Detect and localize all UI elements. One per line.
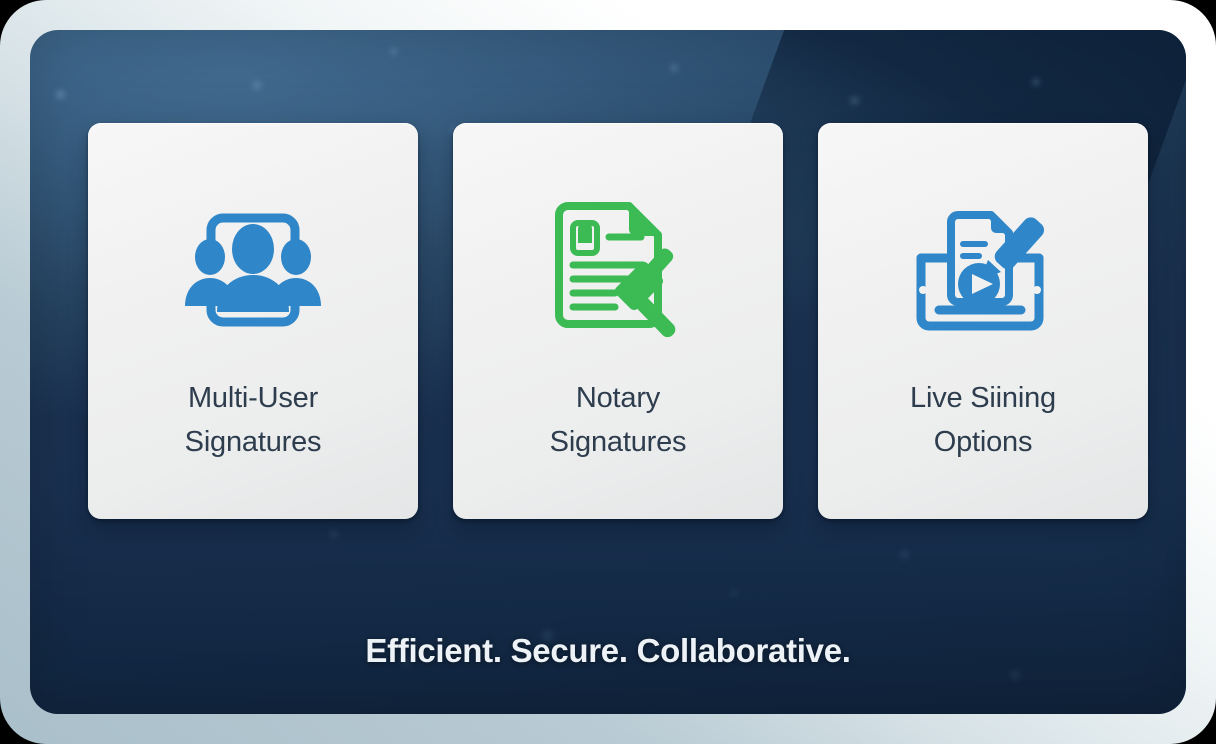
tagline: Efficient. Secure. Collaborative. bbox=[30, 632, 1186, 670]
feature-card-label: Notary Signatures bbox=[550, 377, 687, 464]
bokeh-dot bbox=[390, 48, 397, 55]
bokeh-dot bbox=[1010, 670, 1020, 680]
bokeh-dot bbox=[1032, 78, 1040, 86]
bokeh-dot bbox=[330, 530, 338, 538]
bokeh-dot bbox=[900, 550, 909, 559]
feature-card-live-signing-options[interactable]: Live Siining Options bbox=[818, 123, 1148, 519]
bokeh-dot bbox=[730, 590, 737, 597]
feature-card-notary-signatures[interactable]: Notary Signatures bbox=[453, 123, 783, 519]
device-frame: Multi-User Signatures bbox=[0, 0, 1216, 744]
feature-card-label: Live Siining Options bbox=[910, 377, 1056, 464]
notary-document-gavel-icon bbox=[543, 195, 693, 345]
live-signing-tablet-pen-play-icon bbox=[908, 195, 1058, 345]
bokeh-dot bbox=[670, 64, 678, 72]
feature-card-label: Multi-User Signatures bbox=[185, 377, 322, 464]
hero-panel: Multi-User Signatures bbox=[30, 30, 1186, 714]
bokeh-dot bbox=[252, 80, 262, 90]
bokeh-dot bbox=[850, 96, 859, 105]
bokeh-dot bbox=[56, 90, 65, 99]
feature-card-row: Multi-User Signatures bbox=[88, 123, 1148, 519]
feature-card-multi-user-signatures[interactable]: Multi-User Signatures bbox=[88, 123, 418, 519]
multi-user-group-icon bbox=[178, 195, 328, 345]
